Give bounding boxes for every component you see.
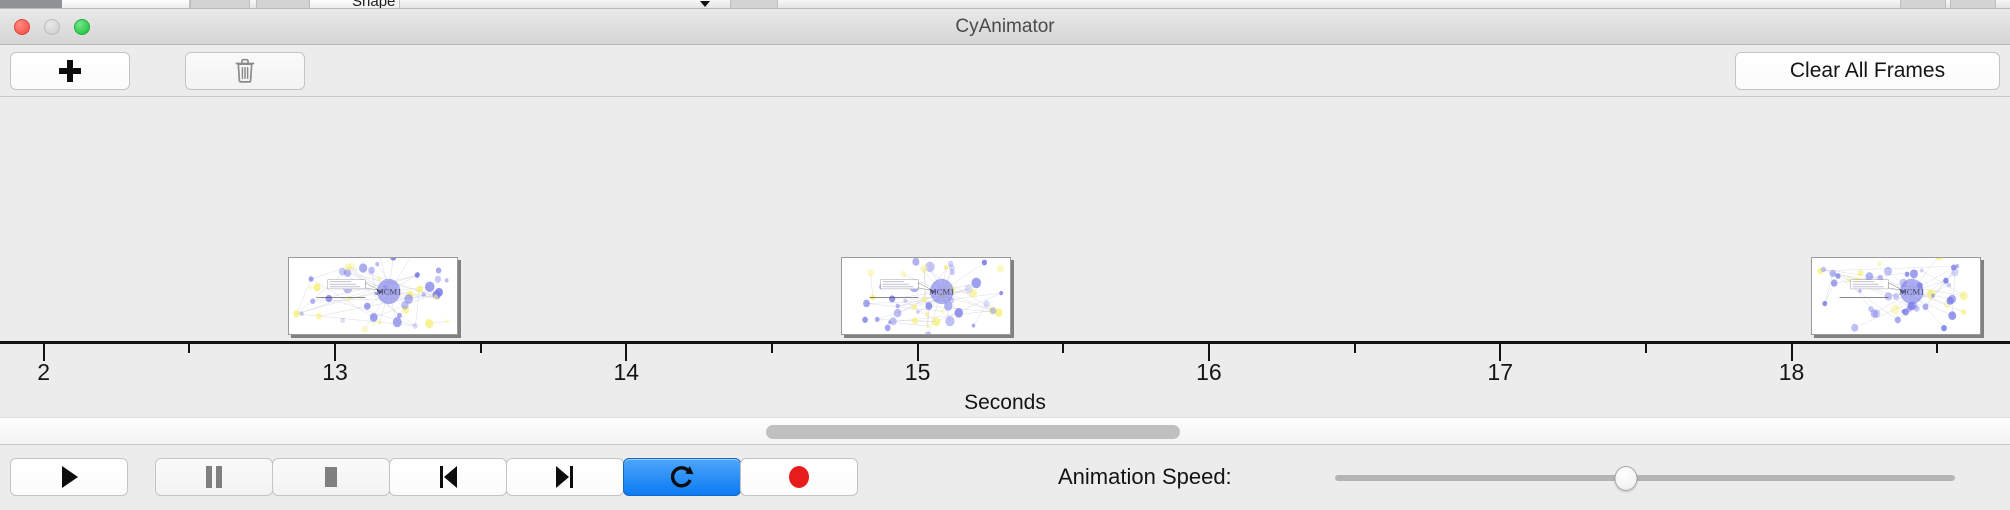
timeline-axis-title: Seconds [0, 391, 2010, 415]
trash-icon [234, 58, 256, 84]
add-frame-button[interactable] [10, 52, 130, 90]
delete-frame-button[interactable] [185, 52, 305, 90]
svg-text:MCM1: MCM1 [376, 286, 401, 296]
axis-tick-minor [480, 344, 482, 353]
background-window-caret-icon [700, 1, 710, 7]
clear-all-frames-button[interactable]: Clear All Frames [1735, 52, 2000, 90]
title-bar: CyAnimator [0, 9, 2010, 45]
next-frame-button[interactable] [506, 458, 624, 496]
stop-icon [320, 464, 342, 490]
background-window-chunk [1950, 0, 1996, 9]
axis-tick-label: 18 [1779, 359, 1805, 386]
background-window-chunk [730, 0, 778, 9]
axis-tick-minor [1645, 344, 1647, 353]
record-button[interactable] [740, 458, 858, 496]
svg-text:MCM1: MCM1 [1899, 286, 1924, 296]
plus-icon [58, 59, 82, 83]
pause-icon [203, 464, 225, 490]
axis-tick-label: 13 [322, 359, 348, 386]
stop-button[interactable] [272, 458, 390, 496]
axis-tick-label: 2 [37, 359, 50, 386]
window-title: CyAnimator [0, 9, 2010, 45]
axis-tick-minor [188, 344, 190, 353]
timeline-axis [0, 341, 2010, 344]
background-window-tab-label: Shape [352, 0, 395, 9]
axis-tick-minor [771, 344, 773, 353]
loop-icon [669, 463, 695, 491]
toolbar: Clear All Frames [0, 45, 2010, 97]
axis-tick-minor [1936, 344, 1938, 353]
axis-tick-minor [1062, 344, 1064, 353]
axis-tick-label: 17 [1487, 359, 1513, 386]
background-window-chunk [1900, 0, 1946, 9]
animation-speed-slider[interactable] [1335, 475, 1955, 481]
axis-tick-label: 15 [905, 359, 931, 386]
animation-speed-slider-thumb[interactable] [1615, 466, 1638, 491]
timeline-scrollbar-track[interactable] [0, 417, 2010, 445]
skip-previous-icon [436, 464, 460, 490]
timeline-canvas[interactable]: MCM1 MCM1 MCM1 2131415161718 Seconds [0, 97, 2010, 417]
timeline-frame-thumbnail[interactable]: MCM1 [1811, 257, 1981, 335]
play-icon [57, 464, 81, 490]
timeline-scrollbar-thumb[interactable] [766, 425, 1180, 439]
playback-bar: Animation Speed: [0, 445, 2010, 509]
background-window-chunk [190, 0, 250, 9]
record-icon [786, 464, 812, 490]
axis-tick-minor [1354, 344, 1356, 353]
previous-frame-button[interactable] [389, 458, 507, 496]
axis-tick-label: 14 [614, 359, 640, 386]
cyanimator-window: CyAnimator Clear All Frames MCM1 MCM1 MC… [0, 9, 2010, 510]
background-window-selected-tab [0, 0, 62, 9]
timeline-frame-thumbnail[interactable]: MCM1 [288, 257, 458, 335]
axis-tick-label: 16 [1196, 359, 1222, 386]
skip-next-icon [553, 464, 577, 490]
timeline-frame-thumbnail[interactable]: MCM1 [841, 257, 1011, 335]
svg-text:MCM1: MCM1 [929, 286, 954, 296]
play-button[interactable] [10, 458, 128, 496]
background-window-tab [62, 0, 190, 9]
background-window-chunk [256, 0, 310, 9]
background-window: Shape [0, 0, 2010, 9]
animation-speed-label: Animation Speed: [1058, 458, 1232, 496]
loop-button[interactable] [623, 458, 741, 496]
pause-button[interactable] [155, 458, 273, 496]
